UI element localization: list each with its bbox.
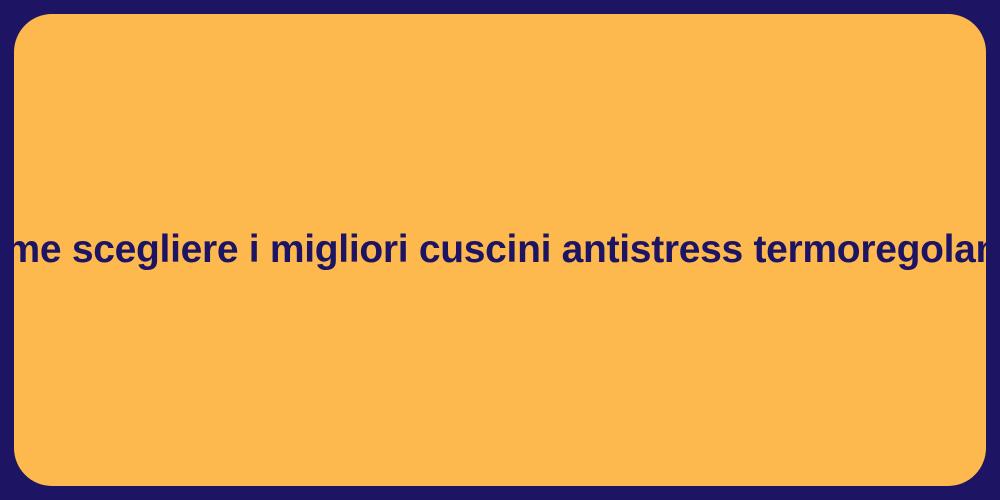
- banner-card: Come scegliere i migliori cuscini antist…: [14, 14, 986, 486]
- page-title: Come scegliere i migliori cuscini antist…: [0, 227, 1000, 273]
- banner-frame: Come scegliere i migliori cuscini antist…: [0, 0, 1000, 500]
